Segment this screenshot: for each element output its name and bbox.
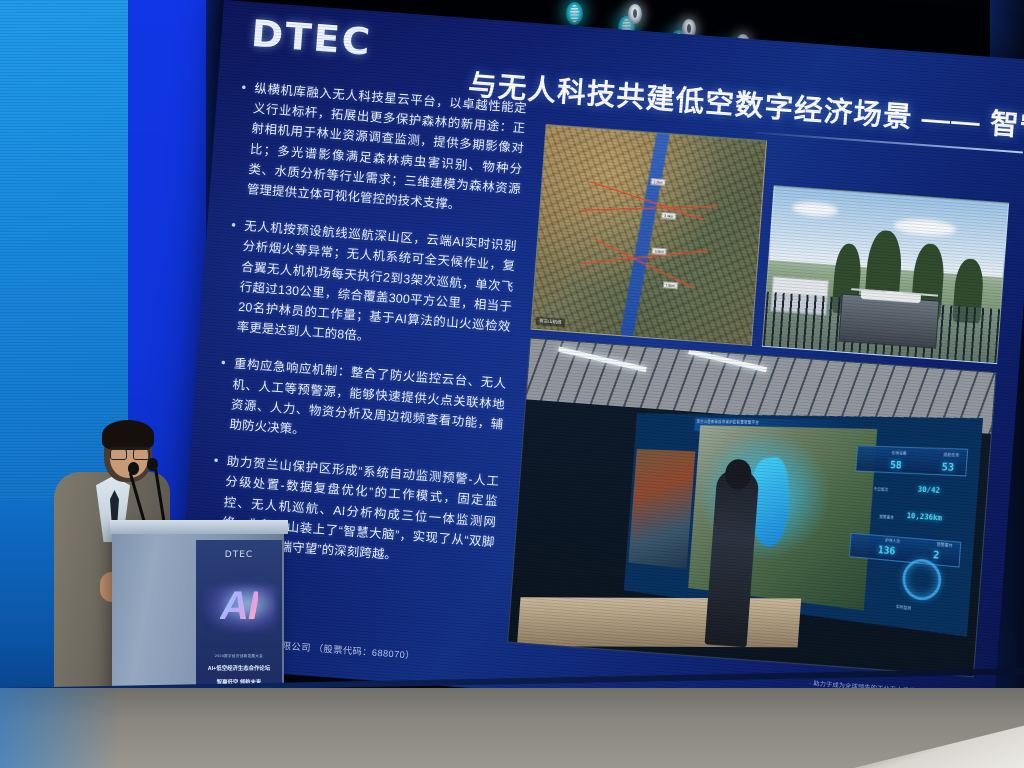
- metric-label: 巡航任务: [943, 452, 959, 458]
- metric-label: 预警事件: [879, 514, 894, 521]
- podium-top-surface: [110, 520, 288, 534]
- waypoint-label: 7.8km: [662, 281, 677, 289]
- video-wall-side-feeds: [628, 448, 695, 568]
- bullet-item: •重构应急响应机制：整合了防火监控云台、无人机、人工等预警源，能够快速提供火点关…: [216, 353, 507, 455]
- podium-event-subtitle-top: 2024数字经济创新发展大会: [215, 654, 263, 659]
- panel-label: 实时监测: [895, 604, 911, 612]
- presentation-slide: DTEC 与无人科技共建低空数字经济场景 —— 智守贺兰山 •纵横机库融入无人科…: [174, 0, 1024, 727]
- drone-dock-station-photo: [762, 185, 1009, 364]
- podium-event-line-1: AI+低空经济生态合作论坛: [208, 664, 270, 672]
- ceiling-tube-light: [558, 347, 647, 372]
- flight-route-satellite-map: 1.2km 3.4km 5.6km 7.8km 贺兰山航线: [530, 124, 767, 346]
- bullet-text: 纵横机库融入无人科技星云平台，以卓越性能定义行业标杆，拓展出更多保护森林的新用途…: [246, 78, 527, 219]
- metric-value: 10,236km: [906, 511, 942, 522]
- metric-value: 2: [932, 547, 939, 560]
- floor-blue-glow: [0, 688, 120, 768]
- dtec-logo: DTEC: [250, 12, 374, 64]
- conference-stage-scene: DTEC 与无人科技共建低空数字经济场景 —— 智守贺兰山 •纵横机库融入无人科…: [0, 0, 1024, 768]
- ceiling-tube-light: [689, 349, 768, 372]
- glasses-icon: [110, 447, 150, 457]
- waypoint-label: 5.6km: [652, 248, 667, 256]
- microphone-head: [128, 462, 139, 475]
- metric-value: 53: [941, 460, 954, 473]
- drone-dock-shape: [838, 294, 940, 349]
- presentation-screen-wrapper: DTEC 与无人科技共建低空数字经济场景 —— 智守贺兰山 •纵横机库融入无人科…: [169, 0, 1024, 768]
- bullet-text: 无人机按预设航线巡航深山区，云端AI实时识别分析烟火等异常；无人机系统可全天候作…: [236, 216, 517, 357]
- microphone-head: [147, 458, 158, 471]
- waypoint-label: 1.2km: [650, 178, 665, 186]
- slide-photo-group: 1.2km 3.4km 5.6km 7.8km 贺兰山航线: [507, 124, 1012, 677]
- stage-floor: [0, 688, 1024, 768]
- slide-bullet-list: •纵横机库融入无人科技星云平台，以卓越性能定义行业标杆，拓展出更多保护森林的新用…: [206, 77, 528, 589]
- metric-value: 30/42: [917, 485, 940, 495]
- metric-label: 在线设备: [891, 450, 906, 456]
- podium-dtec-logo: DTEC: [225, 550, 253, 560]
- bullet-item: •无人机按预设航线巡航深山区，云端AI实时识别分析烟火等异常；无人机系统可全天候…: [223, 215, 517, 357]
- bullet-item: •纵横机库融入无人科技星云平台，以卓越性能定义行业标杆，拓展出更多保护森林的新用…: [233, 77, 527, 219]
- metric-label: 今日架次: [873, 486, 888, 492]
- console-desk: [517, 598, 801, 648]
- person-head: [724, 458, 752, 490]
- speaker-hair: [102, 420, 154, 450]
- metric-value: 136: [877, 543, 895, 557]
- metric-value: 58: [889, 458, 902, 471]
- command-center-video-wall-photo: 贺兰山国家级自然保护区智慧管理平台 在线设备 巡航任务 58 53 今日架次 3…: [507, 337, 996, 677]
- podium-ai-hero-text: AI: [220, 584, 258, 629]
- bullet-text: 重构应急响应机制：整合了防火监控云台、无人机、人工等预警源，能够快速提供火点关联…: [229, 354, 507, 455]
- waypoint-label: 3.4km: [661, 211, 676, 219]
